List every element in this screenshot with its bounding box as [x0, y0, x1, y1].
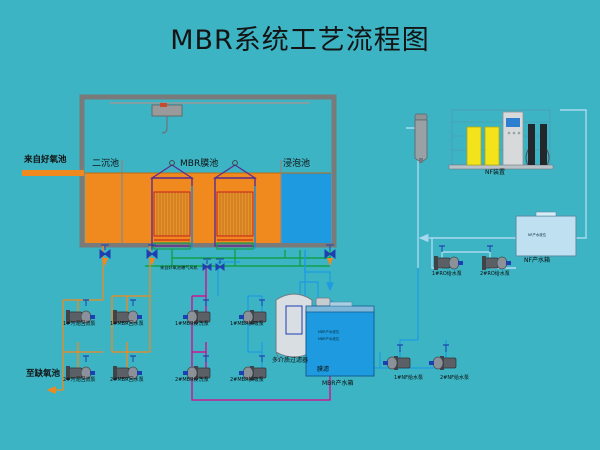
equipment-label-cartridge-filter: 膜滤	[317, 367, 329, 373]
pump-label-1: 1#污泥回流泵	[63, 322, 95, 327]
tank-label-mbr: MBR膜池	[180, 160, 218, 169]
mbr-tank-gauge-line-2: MBR产水液位	[318, 338, 339, 341]
mbr-tank-gauge-line-1: MBR产水液位	[318, 331, 339, 334]
process-flow-diagram: MBR系统工艺流程图	[0, 0, 600, 450]
equipment-label-nf-unit: NF装置	[485, 170, 505, 176]
inlet-label: 来自好氧池	[24, 156, 67, 165]
equipment-label-multimedia-filter: 多介质过滤器	[272, 358, 308, 364]
pump-11-nf-feed-1	[383, 345, 410, 370]
tank-label-soaking: 浸泡池	[283, 160, 310, 169]
pump-label-3: 1#MBR回水泵	[110, 322, 144, 327]
pump-10-ro-feed-2	[482, 246, 511, 270]
pump-label-12: 2#NF给水泵	[440, 376, 469, 381]
pump-label-5: 1#MBR反洗泵	[175, 322, 209, 327]
pump-label-4: 2#MBR回水泵	[110, 378, 144, 383]
pump-label-6: 2#MBR反洗泵	[175, 378, 209, 383]
pump-label-10: 2#RO给水泵	[480, 272, 510, 277]
tank-label-secondary-clarifier: 二沉池	[92, 160, 119, 169]
equipment-label-nf-product-tank: NF产水箱	[524, 258, 550, 264]
pump-label-7: 1#MBR抽吸泵	[230, 322, 264, 327]
pump-9-ro-feed-1	[434, 246, 463, 270]
pump-label-11: 1#NF给水泵	[394, 376, 423, 381]
pump-label-9: 1#RO给水泵	[432, 272, 462, 277]
pump-label-8: 2#MBR抽吸泵	[230, 378, 264, 383]
outlet-label: 至缺氧池	[26, 370, 60, 379]
blower-label: 来自好氧池曝气风机	[160, 266, 198, 270]
equipment-label-mbr-product-tank: MBR产水箱	[322, 381, 353, 387]
nf-tank-gauge-line: NF产水液位	[528, 234, 546, 237]
pump-label-2: 2#污泥回流泵	[63, 378, 95, 383]
pump-12-nf-feed-2	[429, 345, 456, 370]
